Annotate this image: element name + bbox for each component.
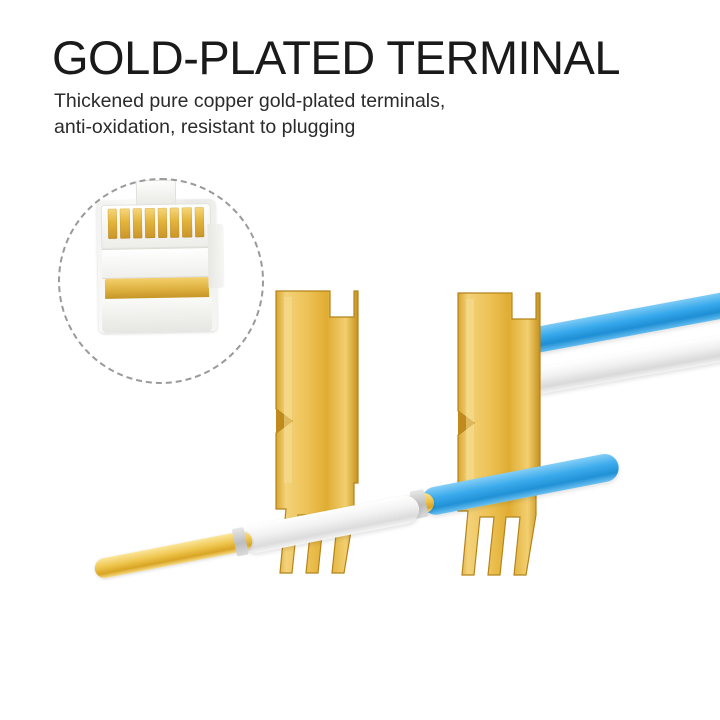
page-title: GOLD-PLATED TERMINAL <box>52 34 620 81</box>
dashed-circle-outline <box>58 178 264 384</box>
subtitle-line-2: anti-oxidation, resistant to plugging <box>54 114 445 140</box>
subtitle-block: Thickened pure copper gold-plated termin… <box>54 88 445 141</box>
subtitle-line-1: Thickened pure copper gold-plated termin… <box>54 88 445 114</box>
product-infographic: GOLD-PLATED TERMINAL Thickened pure copp… <box>0 0 720 720</box>
gold-terminal-blade-right <box>440 285 580 585</box>
gold-conductor <box>93 530 254 580</box>
blade-shape <box>440 285 580 585</box>
